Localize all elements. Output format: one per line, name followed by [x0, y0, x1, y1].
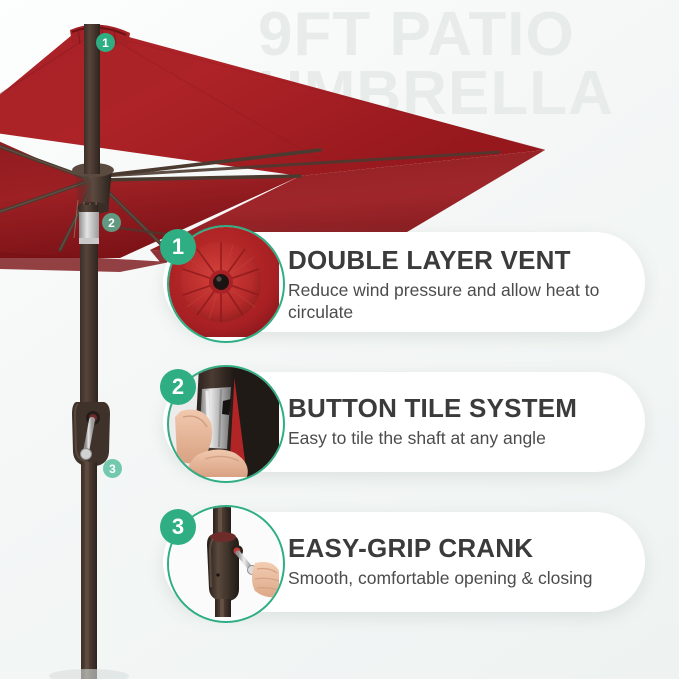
- photo-marker-2: 2: [102, 213, 121, 232]
- feature-badge-1: 1: [160, 229, 196, 265]
- feature-description-1: Reduce wind pressure and allow heat to c…: [288, 279, 619, 323]
- feature-text-2: BUTTON TILE SYSTEM Easy to tile the shaf…: [288, 394, 619, 449]
- feature-title-1: DOUBLE LAYER VENT: [288, 246, 619, 275]
- photo-marker-1: 1: [96, 33, 115, 52]
- feature-title-2: BUTTON TILE SYSTEM: [288, 394, 619, 423]
- feature-badge-3: 3: [160, 509, 196, 545]
- photo-marker-3: 3: [103, 459, 122, 478]
- feature-description-3: Smooth, comfortable opening & closing: [288, 567, 619, 589]
- feature-card-3: 3 EASY-GRIP CRANK Smooth, comfortable op…: [163, 512, 645, 612]
- feature-card-2: 2 BUTTON TILE SYSTEM Easy to tile the sh…: [163, 372, 645, 472]
- feature-card-1: 1 DOUBLE LAYER VENT Reduce wind pressure…: [163, 232, 645, 332]
- feature-description-2: Easy to tile the shaft at any angle: [288, 427, 619, 449]
- feature-text-1: DOUBLE LAYER VENT Reduce wind pressure a…: [288, 246, 619, 323]
- feature-title-3: EASY-GRIP CRANK: [288, 534, 619, 563]
- feature-text-3: EASY-GRIP CRANK Smooth, comfortable open…: [288, 534, 619, 589]
- feature-badge-2: 2: [160, 369, 196, 405]
- product-infographic: 9FT PATIO UMBRELLA: [0, 0, 679, 679]
